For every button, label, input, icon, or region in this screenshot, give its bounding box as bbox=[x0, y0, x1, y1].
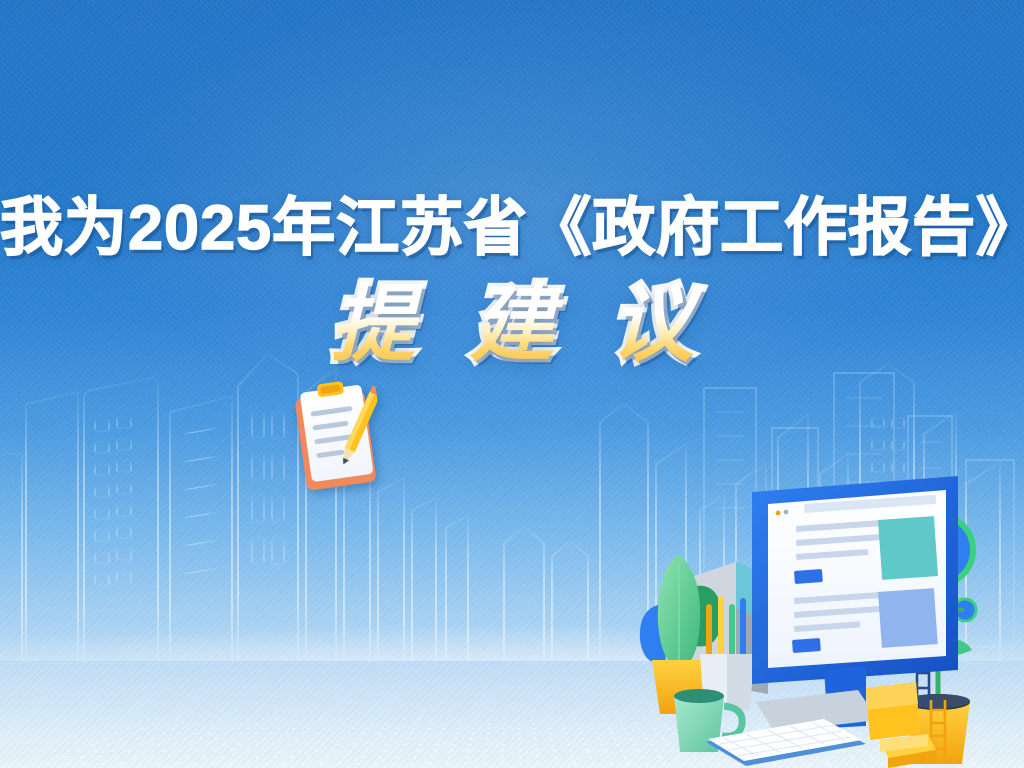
clipboard-icon bbox=[289, 377, 389, 496]
title-block: 我为2025年江苏省《政府工作报告》 提 建 议 提 建 议 bbox=[0, 196, 1024, 398]
banner-root: 我为2025年江苏省《政府工作报告》 提 建 议 提 建 议 bbox=[0, 0, 1024, 768]
monitor bbox=[752, 476, 958, 732]
sticky-note bbox=[866, 682, 920, 740]
page-title-line-1: 我为2025年江苏省《政府工作报告》 bbox=[0, 196, 1024, 260]
page-title-line-2-wrap: 提 建 议 提 建 议 bbox=[0, 280, 1024, 398]
desk-illustration bbox=[628, 458, 1024, 768]
page-title-line-2: 提 建 议 bbox=[315, 280, 710, 368]
